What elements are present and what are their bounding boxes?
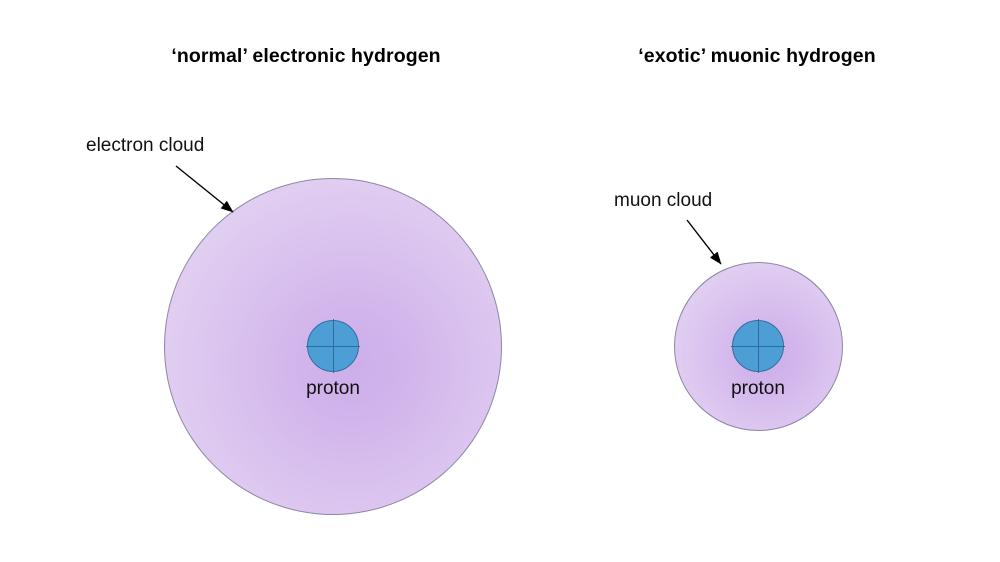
electron-cloud-label: electron cloud: [86, 135, 204, 157]
muon-cloud-label: muon cloud: [614, 190, 712, 212]
proton-electronic-hydrogen: [307, 320, 359, 372]
panel-title-electronic-hydrogen: ‘normal’ electronic hydrogen: [0, 45, 612, 68]
proton-muonic-hydrogen: [732, 320, 784, 372]
proton-label-electronic-hydrogen: proton: [233, 378, 433, 400]
muon-cloud-arrow-icon: [687, 220, 721, 264]
callout-arrow-layer: [0, 0, 1000, 562]
diagram-canvas: ‘normal’ electronic hydrogen ‘exotic’ mu…: [0, 0, 1000, 562]
panel-title-muonic-hydrogen: ‘exotic’ muonic hydrogen: [560, 45, 954, 68]
electron-cloud-arrow-icon: [176, 166, 233, 212]
proton-label-muonic-hydrogen: proton: [658, 378, 858, 400]
